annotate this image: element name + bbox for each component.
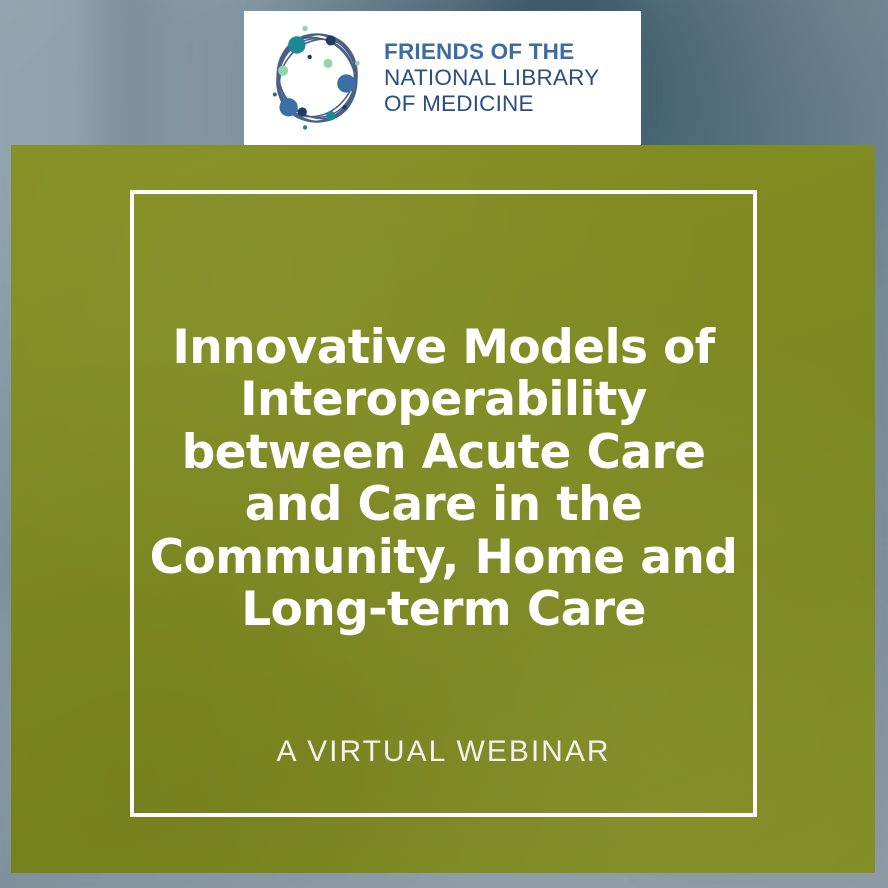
logo-line-national-library: NATIONAL LIBRARY [384, 65, 599, 91]
logo-card: FRIENDS OF THE NATIONAL LIBRARY OF MEDIC… [244, 11, 641, 145]
page-title: Innovative Models of Interoperability be… [134, 322, 753, 636]
logo-line-of-medicine: OF MEDICINE [384, 91, 599, 117]
webinar-poster: FRIENDS OF THE NATIONAL LIBRARY OF MEDIC… [0, 0, 888, 888]
logo-wordmark: FRIENDS OF THE NATIONAL LIBRARY OF MEDIC… [384, 39, 599, 117]
event-type-subhead: A VIRTUAL WEBINAR [134, 735, 753, 769]
friends-of-nlm-circle-logo-icon [262, 19, 372, 137]
white-rule-box: Innovative Models of Interoperability be… [130, 190, 757, 817]
logo-line-friends-of-the: FRIENDS OF THE [384, 39, 599, 65]
